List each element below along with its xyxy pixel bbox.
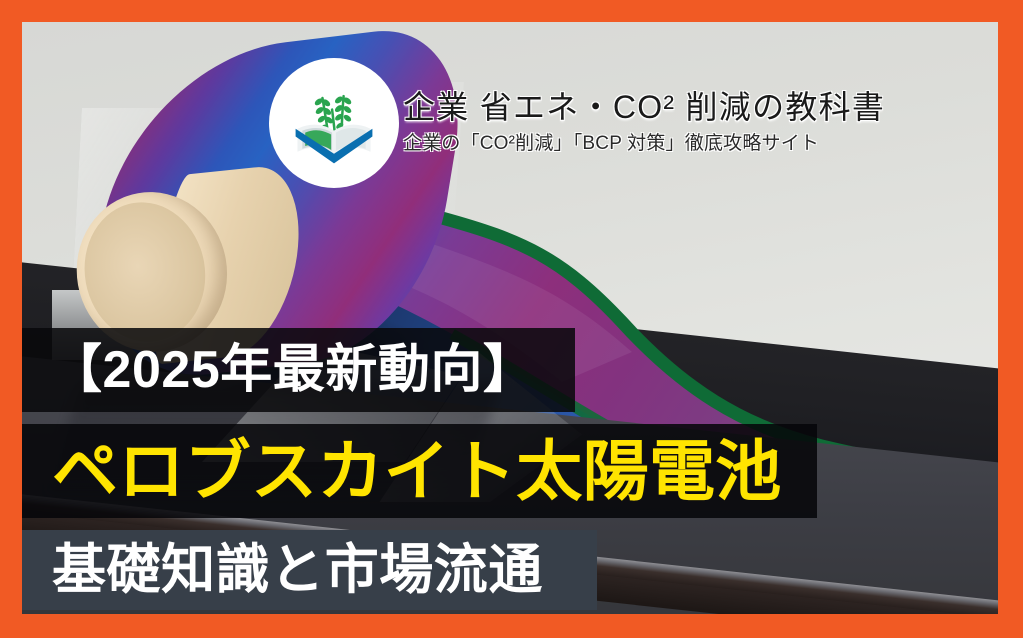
header-text-block: 企業 省エネ・CO² 削減の教科書 企業の「CO²削減」「BCP 対策」徹底攻略… [403, 88, 998, 156]
headline-kicker-text: 【2025年最新動向】 [22, 344, 535, 396]
thumbnail-frame: 企業 省エネ・CO² 削減の教科書 企業の「CO²削減」「BCP 対策」徹底攻略… [0, 0, 1023, 638]
image-canvas: 企業 省エネ・CO² 削減の教科書 企業の「CO²削減」「BCP 対策」徹底攻略… [22, 22, 998, 614]
site-tagline: 企業の「CO²削減」「BCP 対策」徹底攻略サイト [403, 132, 998, 156]
site-title: 企業 省エネ・CO² 削減の教科書 [403, 88, 998, 126]
site-logo[interactable] [269, 58, 399, 188]
headline-sub-text: 基礎知識と市場流通 [22, 543, 543, 597]
headline-main-text: ペロブスカイト太陽電池 [22, 438, 782, 504]
headline-kicker-band: 【2025年最新動向】 [22, 328, 575, 412]
headline-sub-band: 基礎知識と市場流通 [22, 530, 597, 610]
headline-main-band: ペロブスカイト太陽電池 [22, 424, 817, 518]
